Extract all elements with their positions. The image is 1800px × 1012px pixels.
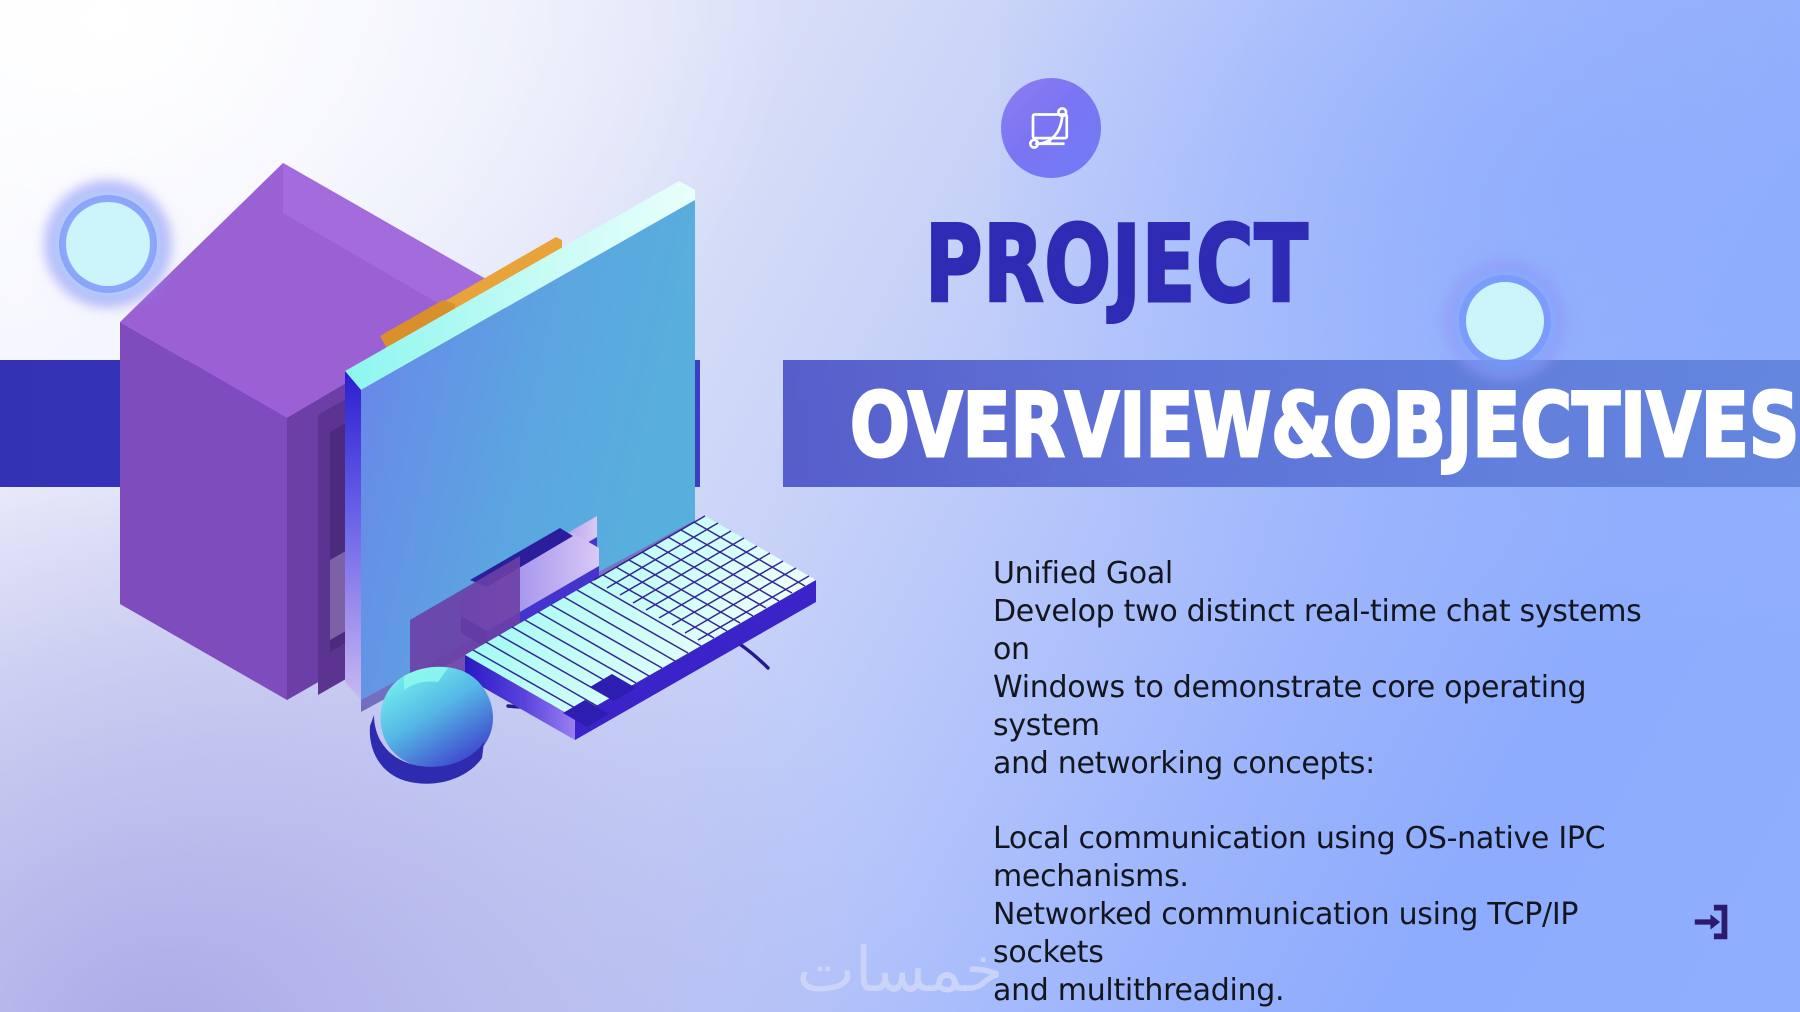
body-heading: Unified Goal	[993, 555, 1683, 593]
watermark-text: خمسات	[0, 933, 1800, 1006]
paragraph-spacer	[993, 783, 1683, 820]
decorative-circle-left	[66, 202, 150, 286]
page-title-secondary: OVERVIEW&OBJECTIVES	[850, 382, 1800, 470]
presentation-slide: PROJECT OVERVIEW&OBJECTIVES Unified Goal…	[0, 0, 1800, 1012]
page-title-primary: PROJECT	[925, 212, 1309, 318]
body-p1-line2: Windows to demonstrate core operating sy…	[993, 669, 1683, 745]
body-p2-line2: mechanisms.	[993, 858, 1683, 896]
body-p1-line3: and networking concepts:	[993, 745, 1683, 783]
design-monitor-icon	[1024, 101, 1078, 155]
body-p2-line1: Local communication using OS-native IPC	[993, 820, 1683, 858]
circle-core	[66, 202, 150, 286]
isometric-computer-illustration	[0, 0, 900, 1012]
decorative-circle-right	[1466, 282, 1544, 360]
circle-core	[1466, 282, 1544, 360]
logo-badge	[1001, 78, 1101, 178]
body-p1-line1: Develop two distinct real-time chat syst…	[993, 593, 1683, 669]
